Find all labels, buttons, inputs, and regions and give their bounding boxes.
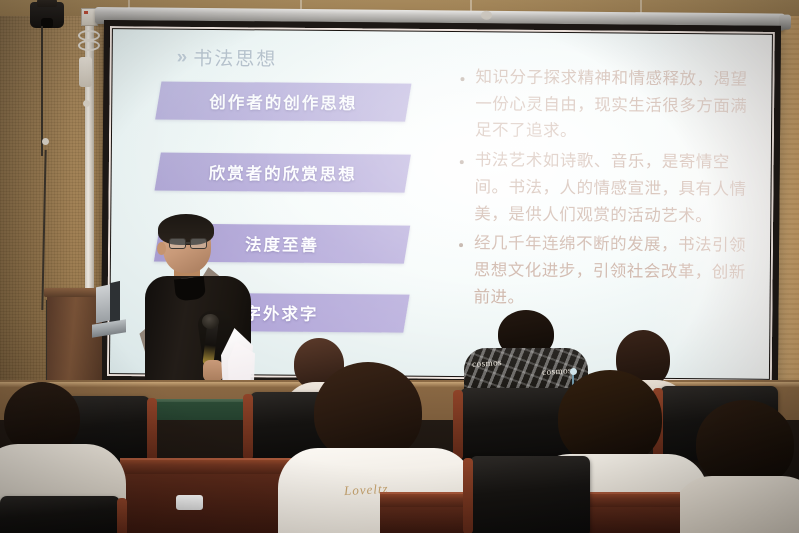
presenter-hand — [203, 360, 223, 382]
desk-object-eraser[interactable] — [176, 495, 203, 510]
bullet-dot-icon — [459, 243, 463, 247]
slide-banner-1-label: 创作者的创作思想 — [158, 81, 408, 121]
bullet-dot-icon — [460, 160, 464, 164]
cable-clip — [83, 100, 90, 107]
chair[interactable] — [470, 456, 590, 533]
chair-arm — [147, 398, 157, 464]
camera-cable — [41, 26, 43, 156]
slide-banner-1: 创作者的创作思想 — [155, 82, 411, 122]
chair-arm — [453, 390, 463, 460]
presenter-ear — [157, 242, 166, 255]
screen-glare — [649, 34, 772, 379]
ptz-camera-icon — [30, 2, 64, 28]
slide-title: » 书法思想 — [177, 44, 278, 72]
status-led-icon — [84, 11, 88, 14]
chair-arm — [243, 394, 253, 460]
torso — [672, 476, 799, 533]
slide-banner-2-label: 欣赏者的欣赏思想 — [158, 152, 408, 192]
bullet-dot-icon — [460, 77, 464, 81]
double-chevron-right-icon: » — [177, 48, 185, 67]
eyeglasses-icon — [169, 238, 211, 249]
cable-clip — [42, 138, 49, 145]
cable-loop — [78, 40, 100, 51]
chair-arm — [463, 458, 473, 533]
audience-member-front-far-right — [690, 400, 799, 533]
slide-title-text: 书法思想 — [193, 44, 277, 72]
lens-right — [190, 238, 207, 249]
lens-left — [169, 238, 186, 249]
power-plug[interactable] — [79, 57, 92, 87]
photo-scene: » 书法思想 创作者的创作思想 欣赏者的欣赏思想 法度至善 字外求字 — [0, 0, 799, 533]
cosmos-jacket-text: cosmos — [472, 357, 503, 369]
head — [558, 370, 662, 466]
slide-banner-2: 欣赏者的欣赏思想 — [155, 153, 411, 193]
head — [314, 362, 422, 462]
chair-arm — [117, 498, 127, 533]
head — [696, 400, 794, 488]
laptop-screen — [110, 281, 120, 323]
roller-hook-icon — [481, 11, 492, 20]
chair[interactable] — [0, 496, 120, 533]
